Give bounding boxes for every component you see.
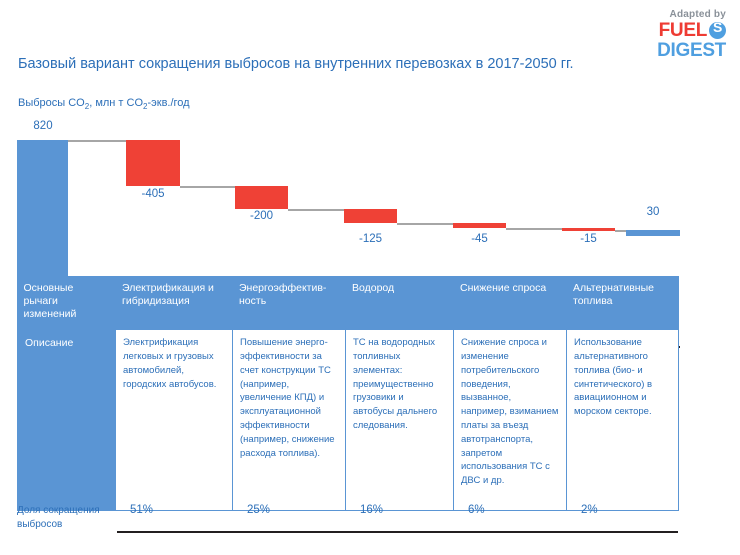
bar-efficiency [235, 186, 288, 209]
bar-value-label-hydrogen: -125 [343, 233, 398, 245]
subtitle-part-1: Выбросы CO [18, 97, 85, 109]
connector-5 [506, 228, 562, 230]
slide-root: Adapted by FUEL DIGEST Базовый вариант с… [0, 0, 740, 555]
page-title: Базовый вариант сокращения выбросов на в… [18, 56, 678, 72]
bar-value-label-demand: -45 [452, 233, 507, 245]
table-header-altfuels: Альтернативные топлива [567, 276, 679, 330]
table-cell-demand: Снижение спроса и изменение потребительс… [454, 330, 567, 511]
logo-fuel-wordmark: FUEL [657, 21, 726, 40]
table-row-label-description: Описание [18, 330, 116, 511]
table-header-levers: Основные рычаги изменений [18, 276, 116, 330]
bar-value-label-electrification: -405 [126, 188, 180, 200]
share-row: Доля сокращения выбросов 51% 25% 16% 6% … [17, 500, 678, 542]
bar-value-label-2017: 820 [17, 120, 69, 132]
connector-3 [288, 209, 344, 211]
table-cell-hydrogen: ТС на водородных топливных элементах: пр… [346, 330, 454, 511]
connector-1 [68, 140, 126, 142]
table-cell-efficiency: Повышение энерго-эффективности за счет к… [233, 330, 346, 511]
table-row: Описание Электрификация легковых и грузо… [18, 330, 679, 511]
swirl-s-icon [709, 22, 726, 39]
share-value-electrification: 51% [130, 504, 153, 516]
bar-electrification [126, 140, 180, 186]
table-header-electrification: Электрификация и гибридизация [116, 276, 233, 330]
table-header-row: Основные рычаги изменений Электрификация… [18, 276, 679, 330]
brand-logo: Adapted by FUEL DIGEST [657, 10, 726, 60]
bar-value-label-2050: 30 [626, 206, 680, 218]
bar-value-label-efficiency: -200 [234, 210, 289, 222]
table-cell-altfuels: Использование альтернативного топлива (б… [567, 330, 679, 511]
bar-altfuels [562, 228, 615, 231]
subtitle-part-3: -экв./год [147, 97, 189, 109]
connector-4 [397, 223, 453, 225]
bar-value-label-altfuels: -15 [561, 233, 616, 245]
share-row-label: Доля сокращения выбросов [17, 504, 117, 531]
axis-unit-label: Выбросы CO2, млн т CO2-экв./год [18, 97, 190, 111]
table-header-efficiency: Энергоэффектив- ность [233, 276, 346, 330]
share-value-altfuels: 2% [581, 504, 598, 516]
logo-fuel-text: FUEL [659, 21, 707, 40]
share-value-efficiency: 25% [247, 504, 270, 516]
waterfall-chart: 820 -405 -200 -125 -45 -15 30 2017 2050 [0, 118, 740, 248]
table-header-hydrogen: Водород [346, 276, 454, 330]
bar-hydrogen [344, 209, 397, 223]
share-value-hydrogen: 16% [360, 504, 383, 516]
share-value-demand: 6% [468, 504, 485, 516]
levers-table: Основные рычаги изменений Электрификация… [17, 276, 679, 511]
connector-2 [180, 186, 235, 188]
subtitle-part-2: , млн т CO [89, 97, 143, 109]
bar-demand [453, 223, 506, 228]
bar-2050 [626, 230, 680, 236]
table-header-demand: Снижение спроса [454, 276, 567, 330]
share-row-underline [117, 531, 678, 533]
table-cell-electrification: Электрификация легковых и грузовых автом… [116, 330, 233, 511]
